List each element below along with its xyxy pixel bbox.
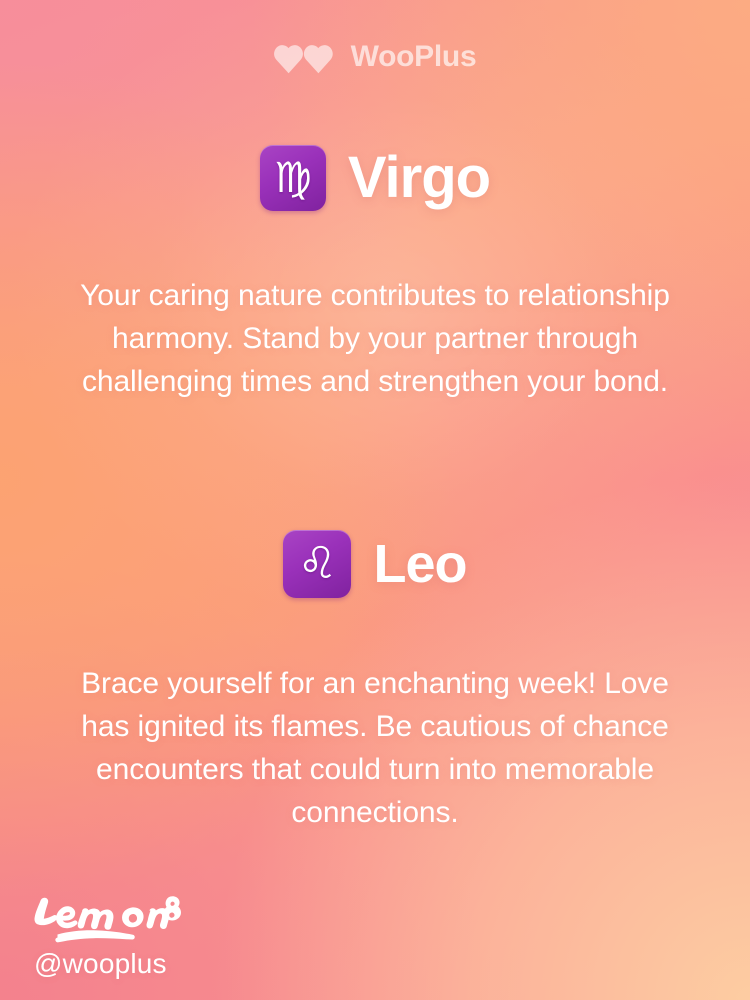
brand-name: WooPlus <box>351 40 477 74</box>
leo-glyph: ♌ <box>298 542 337 586</box>
sign-header-leo: ♌ Leo <box>0 530 750 598</box>
virgo-zodiac-icon: ♍ <box>260 145 326 211</box>
sign-header-virgo: ♍ Virgo <box>0 144 750 211</box>
sign-name-leo: Leo <box>373 533 466 595</box>
two-hearts-icon <box>274 40 336 74</box>
sign-name-virgo: Virgo <box>348 144 490 211</box>
watermark: @wooplus <box>34 890 182 980</box>
handle-text: @wooplus <box>34 948 182 980</box>
horoscope-card: WooPlus ♍ Virgo Your caring nature contr… <box>0 0 750 1000</box>
horoscope-text-leo: Brace yourself for an enchanting week! L… <box>60 662 690 834</box>
virgo-glyph: ♍ <box>274 157 312 199</box>
lemon8-logo-icon <box>34 890 182 944</box>
leo-zodiac-icon: ♌ <box>283 530 351 598</box>
horoscope-text-virgo: Your caring nature contributes to relati… <box>60 274 690 403</box>
brand-header: WooPlus <box>0 40 750 74</box>
